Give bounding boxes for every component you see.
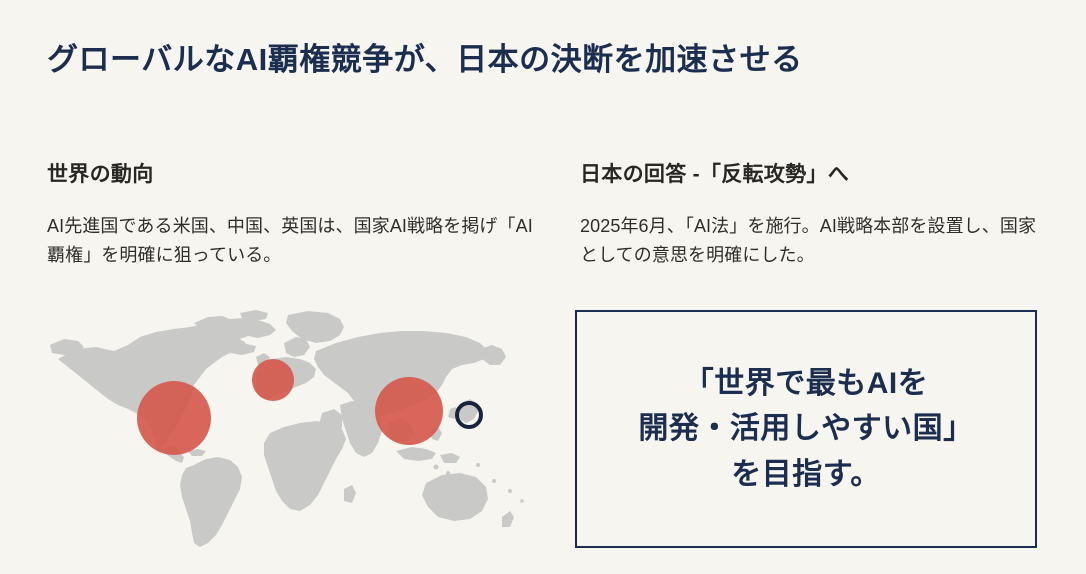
map-marker-china <box>375 377 443 445</box>
right-column: 日本の回答 -「反転攻勢」へ 2025年6月、「AI法」を施行。AI戦略本部を設… <box>580 158 1040 270</box>
quote-text: 「世界で最もAIを 開発・活用しやすい国」 を目指す。 <box>630 361 981 498</box>
right-column-body: 2025年6月、「AI法」を施行。AI戦略本部を設置し、国家としての意思を明確に… <box>580 212 1040 270</box>
quote-line-2: 開発・活用しやすい国」 <box>638 406 973 452</box>
map-landmasses <box>50 310 524 547</box>
left-column-heading: 世界の動向 <box>47 158 547 188</box>
world-map <box>44 305 554 563</box>
map-marker-uk <box>252 359 294 401</box>
right-column-heading: 日本の回答 -「反転攻勢」へ <box>580 158 1040 188</box>
left-column: 世界の動向 AI先進国である米国、中国、英国は、国家AI戦略を掲げ「AI覇権」を… <box>47 158 547 270</box>
quote-line-3: を目指す。 <box>638 452 973 498</box>
left-column-body: AI先進国である米国、中国、英国は、国家AI戦略を掲げ「AI覇権」を明確に狙って… <box>47 212 547 270</box>
quote-callout-box: 「世界で最もAIを 開発・活用しやすい国」 を目指す。 <box>575 310 1037 548</box>
page-title: グローバルなAI覇権競争が、日本の決断を加速させる <box>47 34 803 79</box>
map-marker-usa <box>137 381 211 455</box>
quote-line-1: 「世界で最もAIを <box>638 361 973 407</box>
